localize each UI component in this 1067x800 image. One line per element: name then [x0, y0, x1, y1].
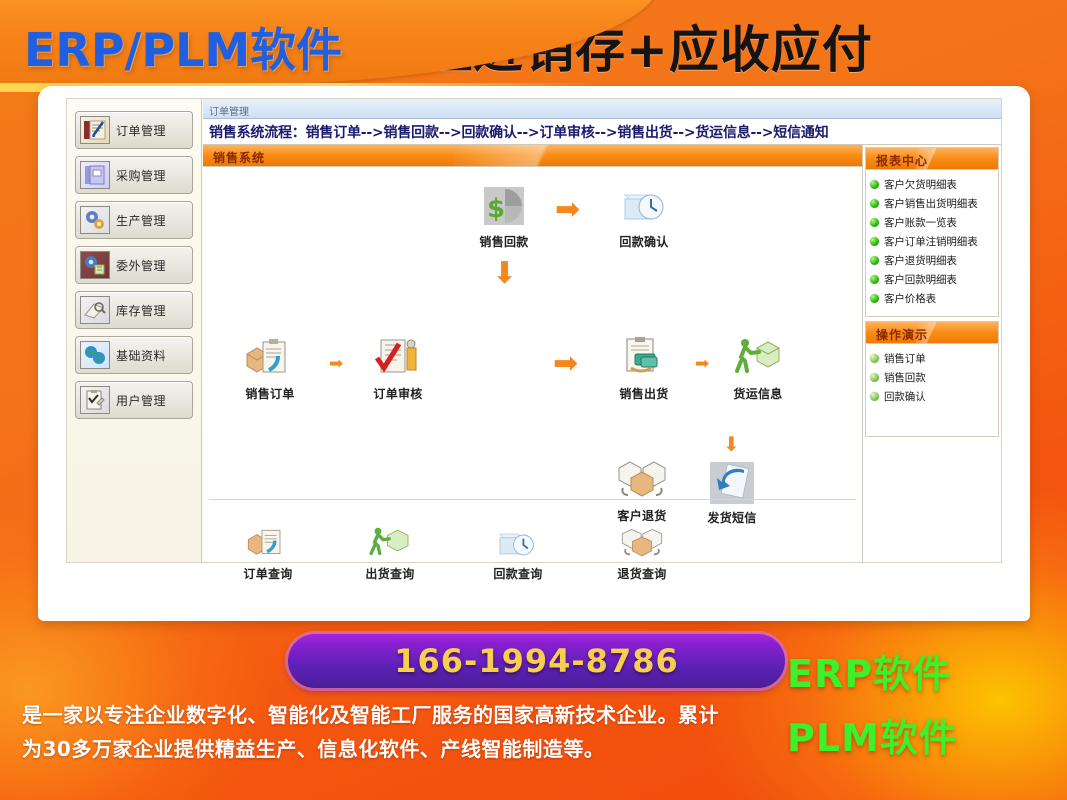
- screenshot-card: 订单管理 采购管理 生产管理: [38, 86, 1030, 621]
- operation-demo-title: 操作演示: [866, 322, 998, 343]
- flow-node-order-review[interactable]: 订单审核: [355, 335, 441, 402]
- flow-node-freight-info[interactable]: 货运信息: [715, 335, 801, 402]
- demo-item[interactable]: 销售回款: [870, 368, 994, 387]
- freight-runner-svg: [733, 336, 783, 382]
- flow-node-payment-query[interactable]: 回款查询: [475, 525, 561, 582]
- flow-node-label: 货运信息: [715, 385, 801, 402]
- flow-description-bar: 销售系统流程：销售订单-->销售回款-->回款确认-->订单审核-->销售出货-…: [203, 119, 1001, 145]
- erp-app-window: 订单管理 采购管理 生产管理: [66, 98, 1002, 563]
- product-tag-erp: ERP软件: [787, 642, 1037, 706]
- order-review-check-svg: [373, 336, 423, 382]
- sidebar-item-order-management[interactable]: 订单管理: [75, 111, 193, 149]
- app-sidebar: 订单管理 采购管理 生产管理: [67, 99, 202, 562]
- sales-order-boxes-icon: [244, 335, 296, 383]
- sales-system-panel-header: 销售系统: [203, 145, 862, 167]
- report-item[interactable]: 客户回款明细表: [870, 270, 994, 289]
- green-dot-icon: [870, 392, 879, 401]
- flow-node-label: 退货查询: [599, 565, 685, 582]
- app-titlebar: 订单管理: [203, 99, 1001, 119]
- sidebar-item-basic-data[interactable]: 基础资料: [75, 336, 193, 374]
- sidebar-item-inventory-management[interactable]: 库存管理: [75, 291, 193, 329]
- arrow-right-order-to-review: ➡: [329, 355, 343, 372]
- demo-item[interactable]: 销售订单: [870, 349, 994, 368]
- flow-node-label: 回款查询: [475, 565, 561, 582]
- report-item[interactable]: 客户欠货明细表: [870, 175, 994, 194]
- demo-item-label: 回款确认: [884, 389, 926, 404]
- sales-system-column: 销售系统 $ 销售回款 ➡: [203, 145, 863, 562]
- payment-query-clock-svg: [496, 526, 540, 562]
- sidebar-item-label: 生产管理: [116, 212, 166, 229]
- poster-background: 理进销存+应收应付 ERP/PLM软件 订单管理 采购管理: [0, 0, 1067, 800]
- flow-node-label: 销售回款: [461, 233, 547, 250]
- report-item[interactable]: 客户销售出货明细表: [870, 194, 994, 213]
- report-center-title: 报表中心: [866, 148, 998, 169]
- svg-text:$: $: [487, 194, 505, 224]
- report-item[interactable]: 客户价格表: [870, 289, 994, 308]
- flow-description-text: 销售系统流程：销售订单-->销售回款-->回款确认-->订单审核-->销售出货-…: [209, 122, 829, 142]
- flow-divider: [209, 499, 856, 500]
- return-query-svg: [619, 526, 665, 562]
- green-dot-icon: [870, 294, 879, 303]
- user-clipboard-svg: [83, 389, 107, 411]
- production-gears-svg: [83, 209, 107, 231]
- demo-item[interactable]: 回款确认: [870, 387, 994, 406]
- flow-node-sales-shipment[interactable]: 销售出货: [601, 335, 687, 402]
- inventory-book-icon: [80, 296, 110, 324]
- report-item-label: 客户价格表: [884, 291, 936, 306]
- operation-demo-panel: 操作演示 销售订单 销售回款 回款确认: [865, 321, 999, 437]
- operation-demo-header: 操作演示: [866, 322, 998, 344]
- order-book-icon: [80, 116, 110, 144]
- payment-chart-icon: $: [478, 183, 530, 231]
- flow-node-label: 发货短信: [689, 509, 775, 526]
- reports-column: 报表中心 客户欠货明细表 客户销售出货明细表 客户账款一览表 客户订单注销明细表…: [863, 145, 1001, 562]
- arrow-down-payment: ⬇: [492, 259, 517, 289]
- flow-node-label: 订单审核: [355, 385, 441, 402]
- app-main: 订单管理 销售系统流程：销售订单-->销售回款-->回款确认-->订单审核-->…: [203, 99, 1001, 562]
- green-dot-icon: [870, 354, 879, 363]
- app-window-title: 订单管理: [209, 107, 249, 118]
- sidebar-item-label: 基础资料: [116, 347, 166, 364]
- report-item-label: 客户欠货明细表: [884, 177, 957, 192]
- outsourcing-gear-icon: [80, 251, 110, 279]
- inventory-book-svg: [83, 299, 107, 321]
- report-center-panel: 报表中心 客户欠货明细表 客户销售出货明细表 客户账款一览表 客户订单注销明细表…: [865, 147, 999, 317]
- flow-node-sales-payment[interactable]: $ 销售回款: [461, 183, 547, 250]
- headline-blue-label: ERP/PLM软件: [24, 14, 342, 80]
- arrow-down-to-sms: ⬇: [723, 435, 740, 455]
- payment-chart-svg: $: [481, 185, 527, 229]
- shipment-clipboard-icon: [618, 335, 670, 383]
- freight-runner-icon: [732, 335, 784, 383]
- payment-confirm-clock-icon: [618, 183, 670, 231]
- sidebar-item-production-management[interactable]: 生产管理: [75, 201, 193, 239]
- flow-node-return-query[interactable]: 退货查询: [599, 525, 685, 582]
- arrow-right-to-shipment: ➡: [553, 349, 578, 379]
- globe-icon: [80, 341, 110, 369]
- flow-node-payment-confirm[interactable]: 回款确认: [601, 183, 687, 250]
- payment-query-clock-icon: [492, 525, 544, 563]
- report-item[interactable]: 客户订单注销明细表: [870, 232, 994, 251]
- sidebar-item-purchase-management[interactable]: 采购管理: [75, 156, 193, 194]
- sales-system-title: 销售系统: [203, 145, 862, 166]
- payment-confirm-clock-svg: [621, 185, 667, 229]
- return-query-icon: [616, 525, 668, 563]
- demo-item-label: 销售回款: [884, 370, 926, 385]
- sidebar-item-label: 库存管理: [116, 302, 166, 319]
- shipment-clipboard-svg: [619, 336, 669, 382]
- green-dot-icon: [870, 256, 879, 265]
- sidebar-item-outsourcing-management[interactable]: 委外管理: [75, 246, 193, 284]
- globe-svg: [83, 344, 107, 366]
- sidebar-item-label: 用户管理: [116, 392, 166, 409]
- order-review-check-icon: [372, 335, 424, 383]
- product-tags: ERP软件 PLM软件: [787, 642, 1037, 770]
- flow-node-sales-order[interactable]: 销售订单: [227, 335, 313, 402]
- company-description: 是一家以专注企业数字化、智能化及智能工厂服务的国家高新技术企业。累计为30多万家…: [22, 698, 722, 766]
- shipment-query-icon: [364, 525, 416, 563]
- report-center-list: 客户欠货明细表 客户销售出货明细表 客户账款一览表 客户订单注销明细表 客户退货…: [866, 170, 998, 316]
- green-dot-icon: [870, 237, 879, 246]
- user-clipboard-icon: [80, 386, 110, 414]
- sidebar-item-label: 采购管理: [116, 167, 166, 184]
- report-item-label: 客户销售出货明细表: [884, 196, 978, 211]
- arrow-right-to-freight: ➡: [695, 355, 709, 372]
- green-dot-icon: [870, 373, 879, 382]
- flow-node-label: 回款确认: [601, 233, 687, 250]
- green-dot-icon: [870, 199, 879, 208]
- purchase-book-svg: [83, 164, 107, 186]
- order-query-svg: [246, 526, 290, 562]
- flow-node-label: 订单查询: [225, 565, 311, 582]
- flow-node-label: 销售出货: [601, 385, 687, 402]
- phone-number-badge[interactable]: 166-1994-8786: [288, 634, 785, 688]
- phone-number-label: 166-1994-8786: [394, 642, 678, 680]
- flow-node-label: 客户退货: [599, 507, 685, 524]
- customer-return-boxes-svg: [617, 458, 667, 504]
- flow-node-label: 销售订单: [227, 385, 313, 402]
- sidebar-item-user-management[interactable]: 用户管理: [75, 381, 193, 419]
- report-item-label: 客户订单注销明细表: [884, 234, 978, 249]
- shipment-query-svg: [368, 526, 412, 562]
- report-item-label: 客户账款一览表: [884, 215, 957, 230]
- order-book-svg: [83, 119, 107, 141]
- order-query-icon: [242, 525, 294, 563]
- green-dot-icon: [870, 180, 879, 189]
- flow-node-customer-return[interactable]: 客户退货: [599, 457, 685, 524]
- green-dot-icon: [870, 218, 879, 227]
- report-item[interactable]: 客户退货明细表: [870, 251, 994, 270]
- outsourcing-gear-svg: [83, 254, 107, 276]
- report-center-header: 报表中心: [866, 148, 998, 170]
- sidebar-item-label: 订单管理: [116, 122, 166, 139]
- flow-node-shipment-query[interactable]: 出货查询: [347, 525, 433, 582]
- product-tag-plm: PLM软件: [787, 706, 1037, 770]
- flow-node-label: 出货查询: [347, 565, 433, 582]
- purchase-book-icon: [80, 161, 110, 189]
- sidebar-item-label: 委外管理: [116, 257, 166, 274]
- report-item-label: 客户退货明细表: [884, 253, 957, 268]
- operation-demo-list: 销售订单 销售回款 回款确认: [866, 344, 998, 436]
- report-item[interactable]: 客户账款一览表: [870, 213, 994, 232]
- demo-item-label: 销售订单: [884, 351, 926, 366]
- customer-return-boxes-icon: [616, 457, 668, 505]
- green-dot-icon: [870, 275, 879, 284]
- flow-node-shipment-sms[interactable]: 发货短信: [689, 459, 775, 526]
- production-gears-icon: [80, 206, 110, 234]
- sales-order-boxes-svg: [245, 336, 295, 382]
- flow-node-order-query[interactable]: 订单查询: [225, 525, 311, 582]
- report-item-label: 客户回款明细表: [884, 272, 957, 287]
- app-body-columns: 销售系统 $ 销售回款 ➡: [203, 145, 1001, 562]
- arrow-right-payment-to-confirm: ➡: [555, 195, 580, 225]
- sales-flow-canvas: $ 销售回款 ➡ 回款确认: [203, 167, 862, 562]
